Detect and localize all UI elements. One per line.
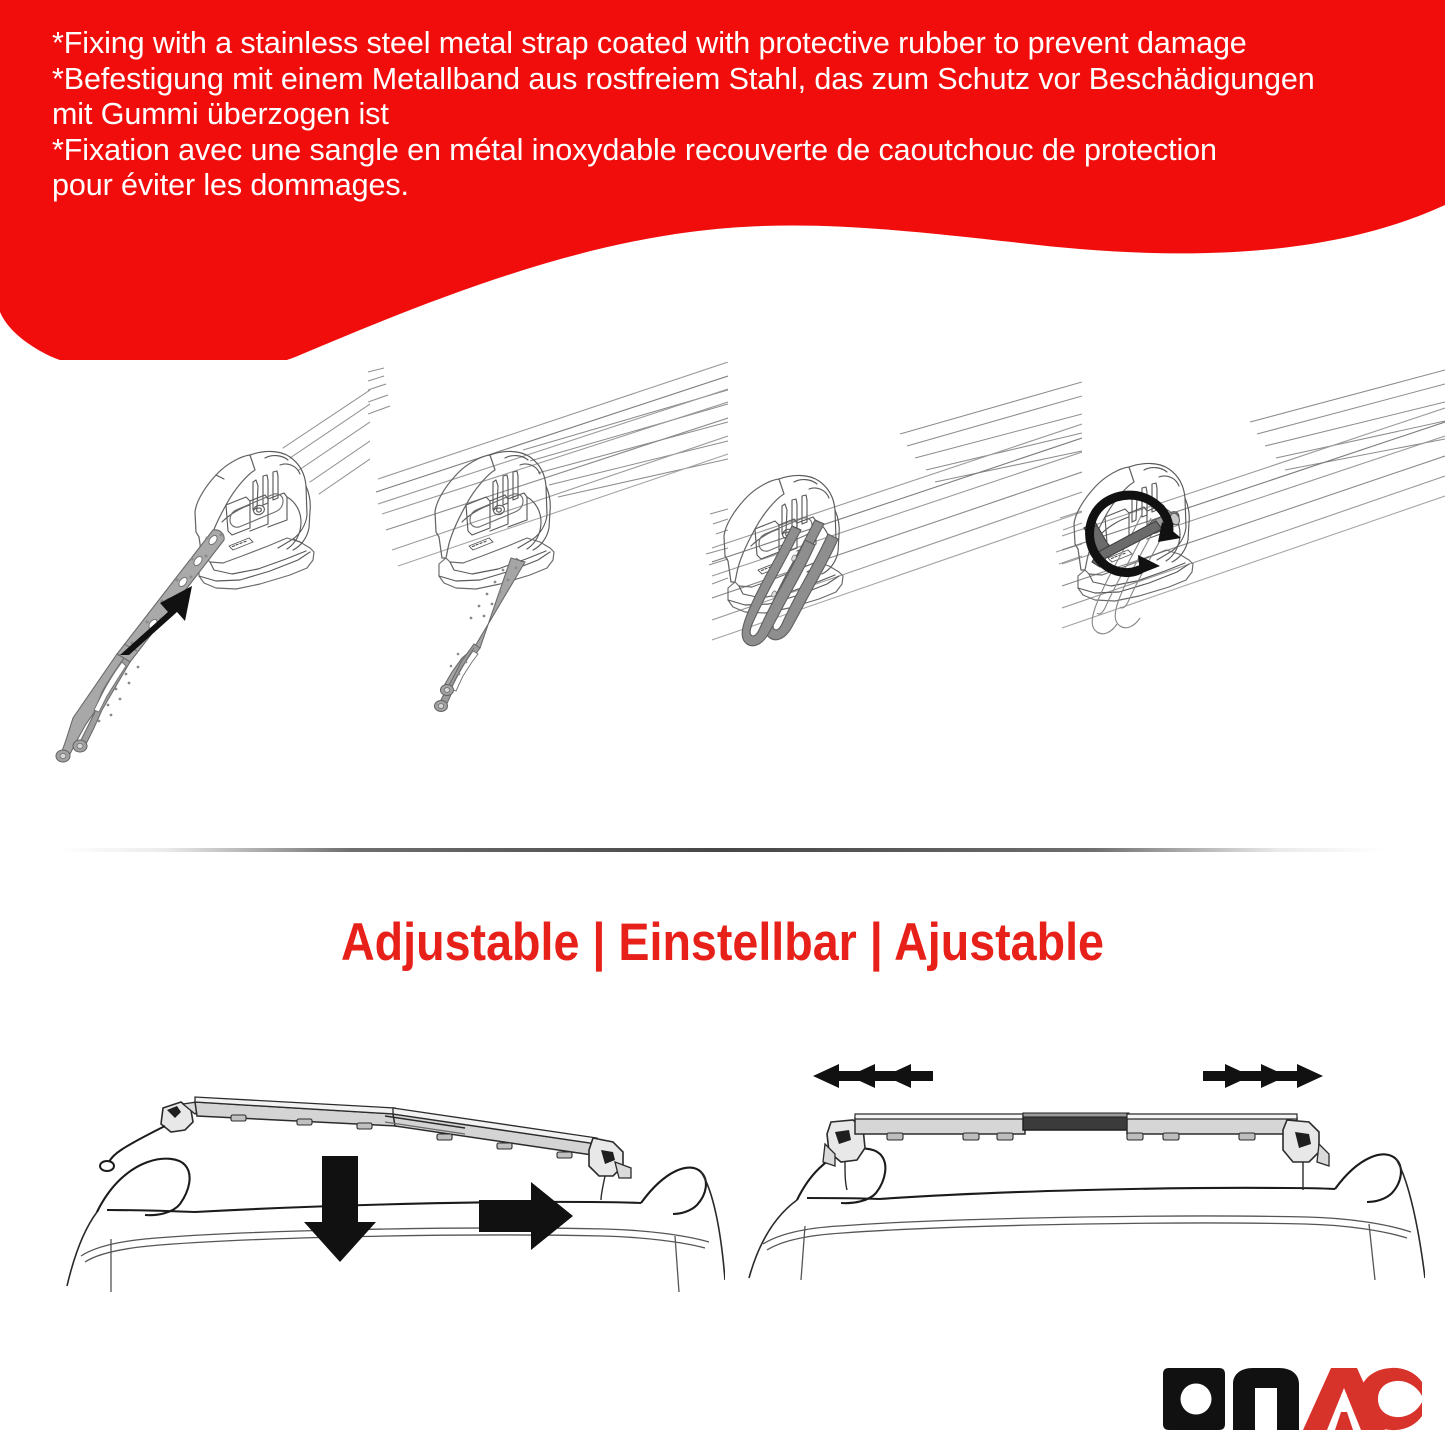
step-2-foot-on-rail <box>368 362 728 842</box>
omac-logo-mark <box>1163 1362 1425 1434</box>
step-4-drawing <box>1062 362 1445 842</box>
step-3-strap-wrapped <box>712 362 1082 842</box>
product-instruction-page: *Fixing with a stainless steel metal str… <box>0 0 1445 1445</box>
section-divider <box>60 848 1385 852</box>
bottom-left-drawing <box>45 1030 725 1320</box>
logo-letter-c <box>1359 1368 1422 1430</box>
triple-right-arrows <box>1203 1064 1323 1088</box>
step-1-insert-strap <box>10 362 370 842</box>
metal-strap-step1 <box>56 530 224 762</box>
bottom-left-crossbar-placement <box>45 1030 725 1325</box>
omac-logo <box>1163 1362 1425 1434</box>
banner-text: *Fixing with a stainless steel metal str… <box>52 26 1442 204</box>
metal-strap-step2 <box>435 558 526 712</box>
logo-letter-m <box>1233 1368 1299 1430</box>
bottom-right-drawing <box>735 1030 1425 1320</box>
down-arrow <box>304 1156 376 1262</box>
step-2-drawing <box>368 362 728 842</box>
adjustable-diagrams <box>0 1030 1445 1320</box>
step-1-drawing <box>10 362 370 842</box>
right-arrow <box>479 1182 573 1250</box>
crossbar-tilted <box>100 1097 631 1200</box>
crossbar-horizontal <box>823 1113 1329 1190</box>
triple-left-arrows <box>813 1064 933 1088</box>
red-banner: *Fixing with a stainless steel metal str… <box>0 0 1445 360</box>
bottom-right-crossbar-width <box>735 1030 1425 1325</box>
step-3-drawing <box>712 362 1082 842</box>
installation-steps <box>0 362 1445 842</box>
adjustable-heading: Adjustable | Einstellbar | Ajustable <box>87 912 1359 973</box>
step-4-tighten-bolt <box>1062 362 1445 842</box>
